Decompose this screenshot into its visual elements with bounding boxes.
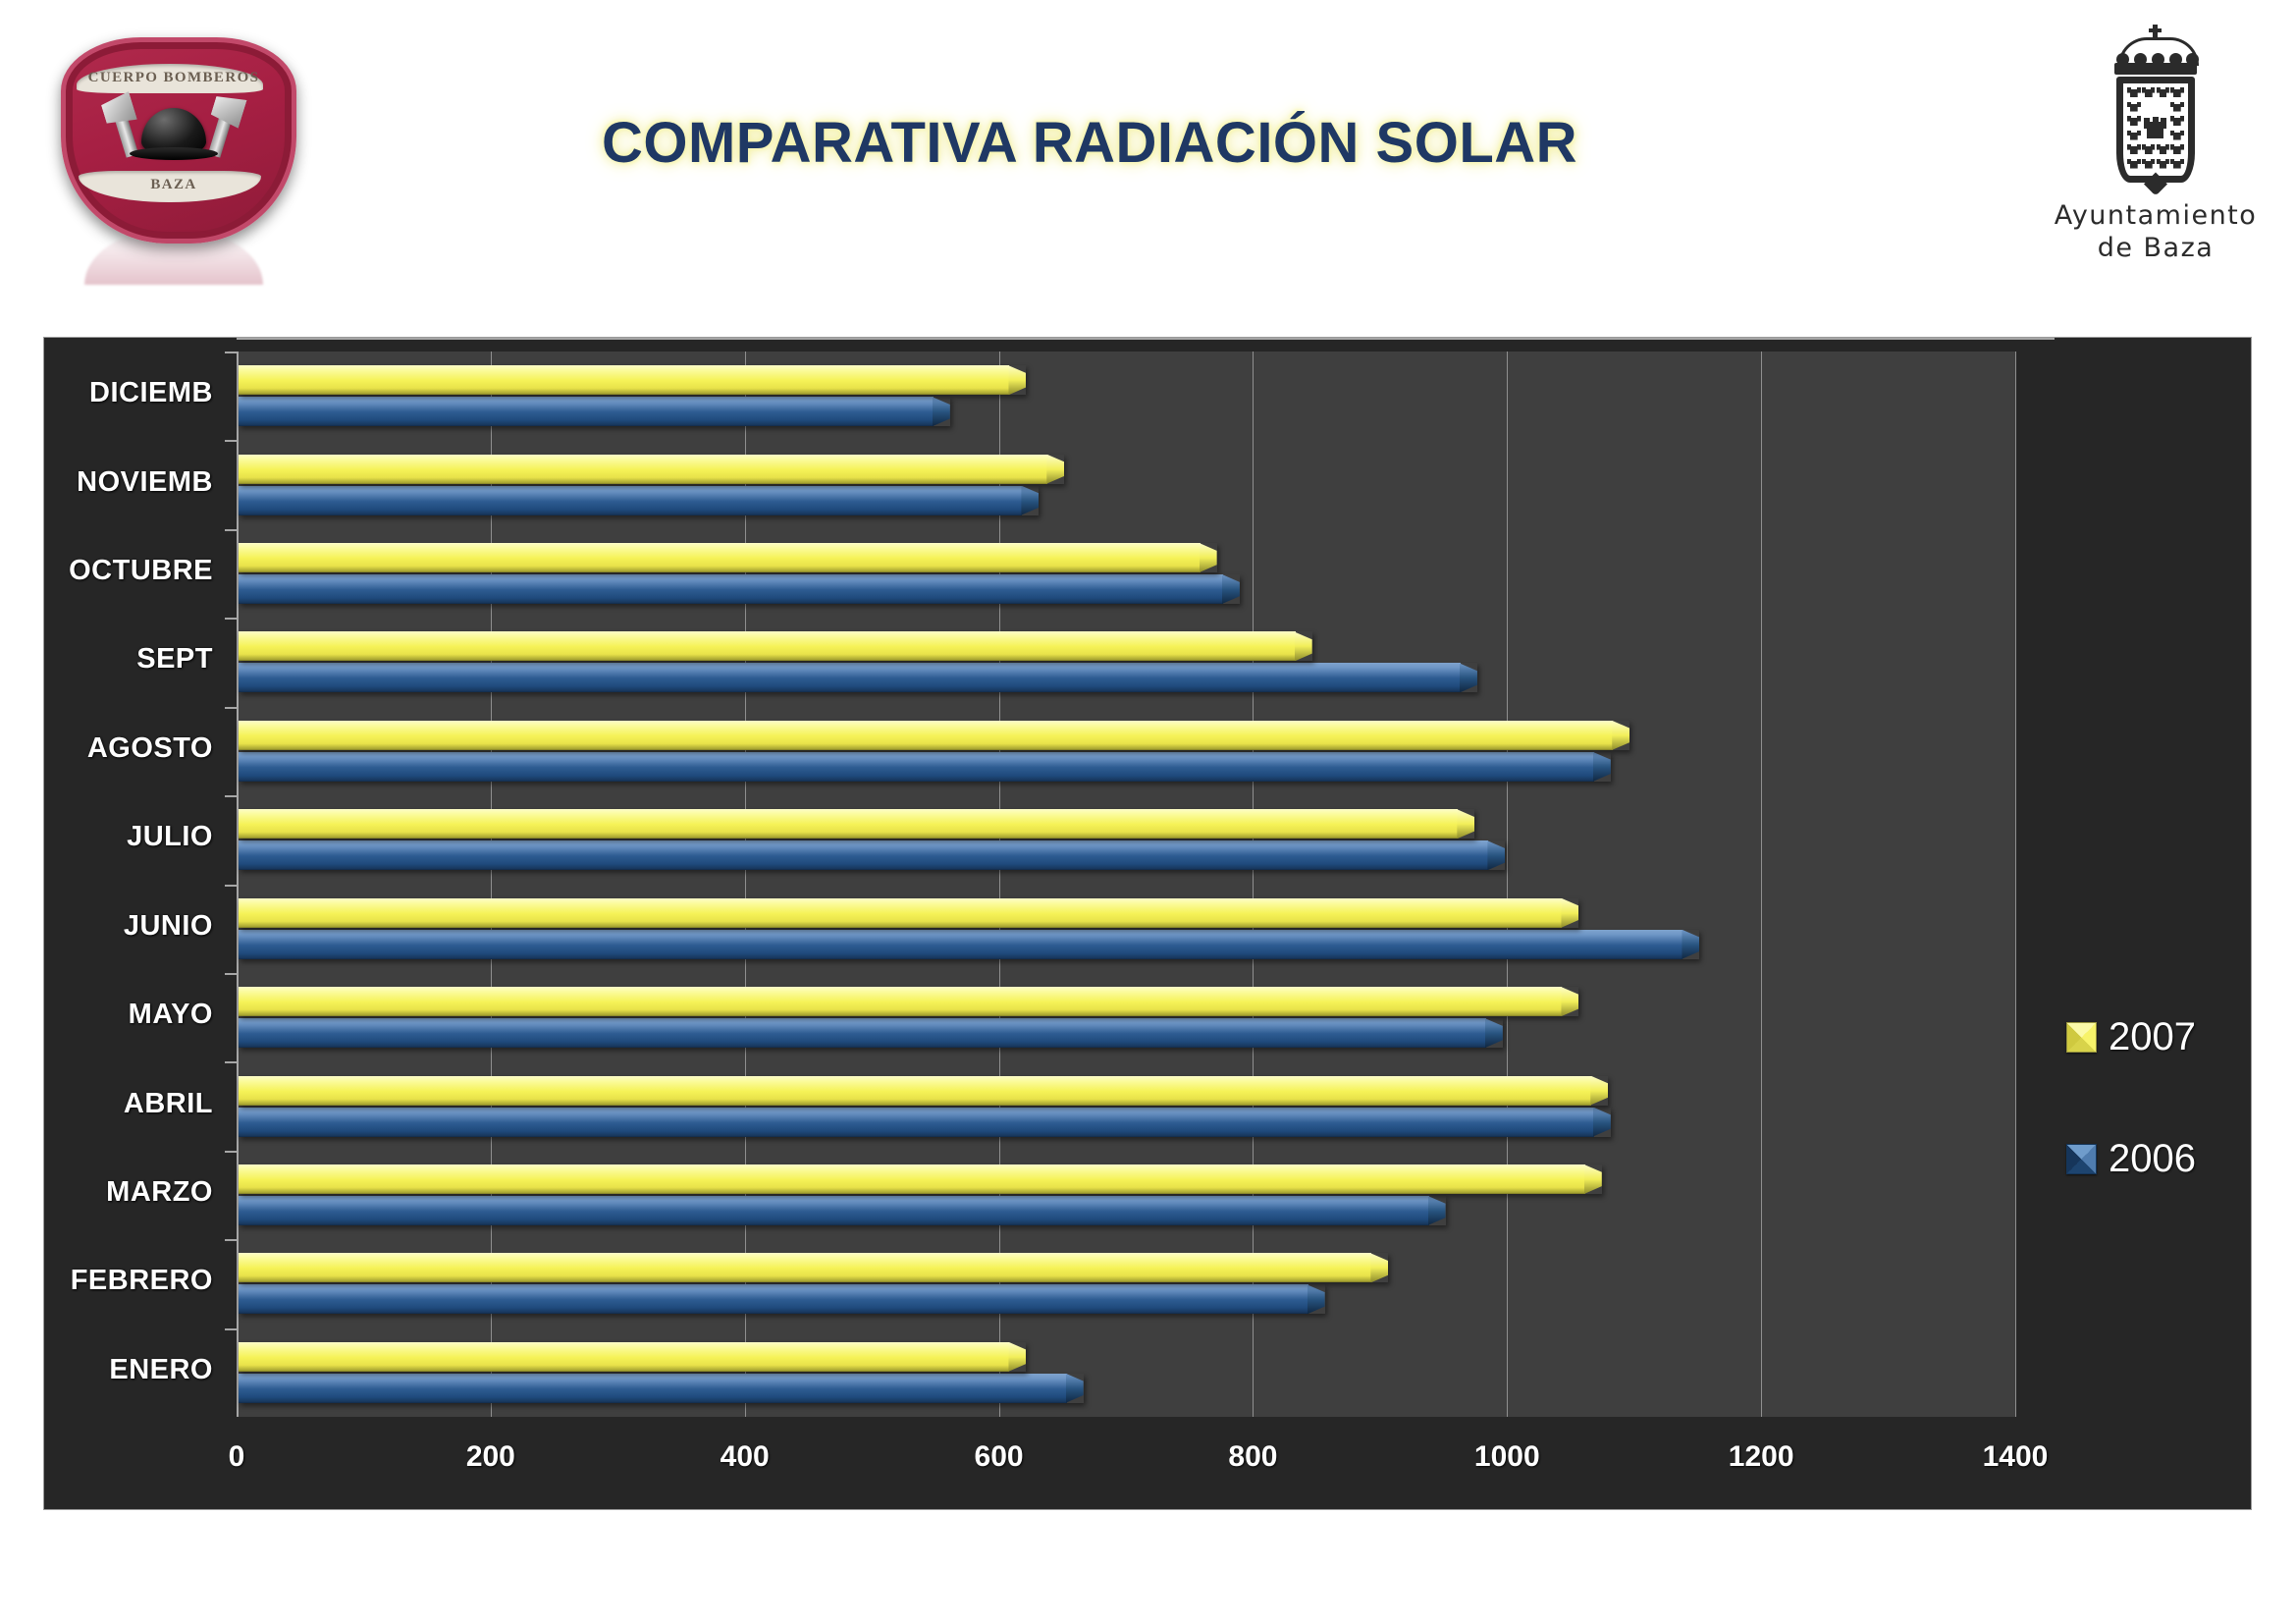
bar-tip	[1428, 1196, 1446, 1225]
bar-2006-enero	[239, 1374, 1084, 1403]
bar-2006-marzo	[239, 1196, 1446, 1225]
bar-tip	[1457, 809, 1474, 839]
castle-tower-icon	[2170, 87, 2184, 101]
bar-2007-agosto	[239, 721, 1629, 750]
bar-body	[239, 1164, 1585, 1194]
castle-tower-icon	[2127, 144, 2141, 158]
slide-root: CUERPO BOMBEROS BAZA COMPARATIVA RADIACI…	[0, 0, 2296, 1624]
bar-tip	[1561, 898, 1578, 928]
castle-main-tower-icon	[2142, 116, 2170, 143]
bar-2006-abril	[239, 1108, 1611, 1137]
x-tick-label-0: 0	[229, 1440, 245, 1474]
bar-tip	[1008, 365, 1026, 395]
gridline	[2015, 352, 2016, 1417]
castle-tower-icon	[2127, 131, 2141, 144]
y-axis-tick	[225, 885, 237, 887]
y-axis-tick	[225, 973, 237, 975]
bar-body	[239, 840, 1488, 870]
chart-container: ENEROFEBREROMARZOABRILMAYOJUNIOJULIOAGOS…	[43, 337, 2252, 1510]
castle-tower-icon	[2142, 144, 2156, 158]
bar-tip	[1295, 631, 1312, 661]
badge-text-bottom: BAZA	[61, 177, 287, 193]
crown-band	[2114, 63, 2197, 75]
bar-2006-junio	[239, 930, 1699, 959]
bar-body	[239, 397, 934, 426]
y-axis-tick	[225, 1239, 237, 1241]
bar-tip	[1370, 1253, 1388, 1282]
gridline	[1761, 352, 1762, 1417]
bar-2007-junio	[239, 898, 1578, 928]
bar-2007-diciemb	[239, 365, 1026, 395]
bar-body	[239, 631, 1296, 661]
x-axis-line	[237, 338, 2055, 340]
y-axis-tick	[225, 1151, 237, 1153]
bar-body	[239, 987, 1562, 1016]
bar-2007-enero	[239, 1342, 1026, 1372]
castle-tower-icon	[2127, 116, 2141, 130]
castle-tower-icon	[2170, 131, 2184, 144]
category-label-enero: ENERO	[109, 1354, 213, 1386]
y-axis-tick	[225, 529, 237, 531]
gridline	[1507, 352, 1508, 1417]
category-label-mayo: MAYO	[129, 999, 213, 1031]
page-title: COMPARATIVA RADIACIÓN SOLAR	[550, 110, 1629, 176]
y-axis-tick	[225, 795, 237, 797]
bar-tip	[1590, 1076, 1608, 1106]
cuerpo-bomberos-badge-icon: CUERPO BOMBEROS BAZA	[61, 37, 287, 248]
bar-2007-noviemb	[239, 455, 1064, 484]
category-label-junio: JUNIO	[124, 910, 213, 943]
category-label-agosto: AGOSTO	[87, 732, 213, 765]
bar-2007-octubre	[239, 543, 1217, 572]
y-axis-tick	[225, 707, 237, 709]
bar-body	[239, 543, 1201, 572]
bar-tip	[1008, 1342, 1026, 1372]
castle-tower-icon	[2157, 87, 2170, 101]
bar-2006-febrero	[239, 1284, 1325, 1314]
bar-2007-sept	[239, 631, 1312, 661]
bar-2007-febrero	[239, 1253, 1388, 1282]
bar-2007-abril	[239, 1076, 1608, 1106]
x-tick-label-400: 400	[721, 1440, 770, 1474]
bar-body	[239, 1284, 1308, 1314]
bar-body	[239, 574, 1223, 604]
bar-body	[239, 663, 1461, 692]
y-axis-tick	[225, 618, 237, 620]
bar-body	[239, 1253, 1371, 1282]
bar-tip	[1593, 1108, 1611, 1137]
category-label-noviemb: NOVIEMB	[77, 466, 213, 499]
castle-tower-icon	[2157, 144, 2170, 158]
category-label-febrero: FEBRERO	[71, 1265, 213, 1297]
bar-2006-julio	[239, 840, 1505, 870]
bar-body	[239, 898, 1562, 928]
castle-tower-icon	[2127, 102, 2141, 116]
bar-2007-mayo	[239, 987, 1578, 1016]
slide-header: CUERPO BOMBEROS BAZA COMPARATIVA RADIACI…	[0, 0, 2296, 314]
x-tick-label-1000: 1000	[1474, 1440, 1540, 1474]
x-tick-label-1400: 1400	[1983, 1440, 2049, 1474]
category-label-marzo: MARZO	[106, 1176, 213, 1209]
bar-body	[239, 1018, 1486, 1048]
legend-label-2007: 2007	[2109, 1015, 2196, 1059]
bar-tip	[1612, 721, 1629, 750]
bar-tip	[1046, 455, 1064, 484]
castle-tower-icon	[2127, 159, 2141, 173]
bar-body	[239, 1342, 1009, 1372]
bar-body	[239, 809, 1458, 839]
x-tick-label-600: 600	[975, 1440, 1024, 1474]
bar-body	[239, 486, 1022, 515]
ayuntamiento-crest-icon: Ayuntamiento de Baza	[2087, 27, 2224, 204]
bar-tip	[1066, 1374, 1084, 1403]
shield-tower-grid	[2127, 87, 2184, 172]
crown-cross-icon	[2153, 25, 2158, 38]
bar-body	[239, 1374, 1067, 1403]
bar-tip	[1485, 1018, 1503, 1048]
category-label-julio: JULIO	[127, 821, 213, 853]
badge-text-top: CUERPO BOMBEROS	[61, 70, 287, 86]
castle-tower-icon	[2127, 87, 2141, 101]
x-tick-label-800: 800	[1228, 1440, 1277, 1474]
castle-tower-icon	[2170, 102, 2184, 116]
badge-reflection	[84, 230, 263, 285]
bar-tip	[1200, 543, 1217, 572]
legend-item-2006[interactable]: 2006	[2066, 1137, 2196, 1181]
shield-icon	[2116, 77, 2195, 183]
bar-2006-diciemb	[239, 397, 950, 426]
bar-tip	[1021, 486, 1039, 515]
bar-body	[239, 930, 1682, 959]
bar-tip	[933, 397, 950, 426]
bar-2006-agosto	[239, 752, 1611, 782]
bar-tip	[1593, 752, 1611, 782]
crown-icon	[2109, 27, 2203, 77]
bar-body	[239, 752, 1594, 782]
y-axis-tick	[225, 1328, 237, 1330]
bar-body	[239, 455, 1047, 484]
bar-2006-octubre	[239, 574, 1240, 604]
x-tick-label-200: 200	[466, 1440, 515, 1474]
castle-tower-icon	[2157, 159, 2170, 173]
bar-tip	[1460, 663, 1477, 692]
category-label-octubre: OCTUBRE	[69, 555, 213, 587]
bar-body	[239, 365, 1009, 395]
crest-caption: Ayuntamiento de Baza	[2018, 200, 2293, 263]
bar-2007-julio	[239, 809, 1474, 839]
legend-item-2007[interactable]: 2007	[2066, 1015, 2196, 1059]
bar-tip	[1308, 1284, 1325, 1314]
legend-label-2006: 2006	[2109, 1137, 2196, 1181]
bar-body	[239, 721, 1613, 750]
castle-tower-icon	[2170, 144, 2184, 158]
bar-2006-sept	[239, 663, 1477, 692]
bar-tip	[1561, 987, 1578, 1016]
bar-2006-noviemb	[239, 486, 1039, 515]
bar-body	[239, 1196, 1429, 1225]
bar-body	[239, 1076, 1591, 1106]
bar-body	[239, 1108, 1594, 1137]
legend-swatch-2007-icon	[2066, 1022, 2097, 1053]
bar-tip	[1584, 1164, 1602, 1194]
y-axis-tick	[225, 352, 237, 353]
castle-tower-icon	[2170, 159, 2184, 173]
castle-tower-icon	[2142, 87, 2156, 101]
category-label-abril: ABRIL	[124, 1088, 213, 1120]
bar-tip	[1487, 840, 1505, 870]
bar-2007-marzo	[239, 1164, 1602, 1194]
y-axis-tick	[225, 440, 237, 442]
category-label-diciemb: DICIEMB	[89, 377, 213, 409]
crest-caption-line2: de Baza	[2018, 233, 2293, 263]
bar-tip	[1222, 574, 1240, 604]
legend-swatch-2006-icon	[2066, 1144, 2097, 1174]
category-label-sept: SEPT	[136, 643, 213, 676]
crest-caption-line1: Ayuntamiento	[2018, 200, 2293, 231]
bar-2006-mayo	[239, 1018, 1503, 1048]
x-tick-label-1200: 1200	[1729, 1440, 1794, 1474]
castle-tower-icon	[2142, 159, 2156, 173]
bar-tip	[1682, 930, 1699, 959]
y-axis-tick	[225, 1061, 237, 1063]
castle-tower-icon	[2170, 116, 2184, 130]
